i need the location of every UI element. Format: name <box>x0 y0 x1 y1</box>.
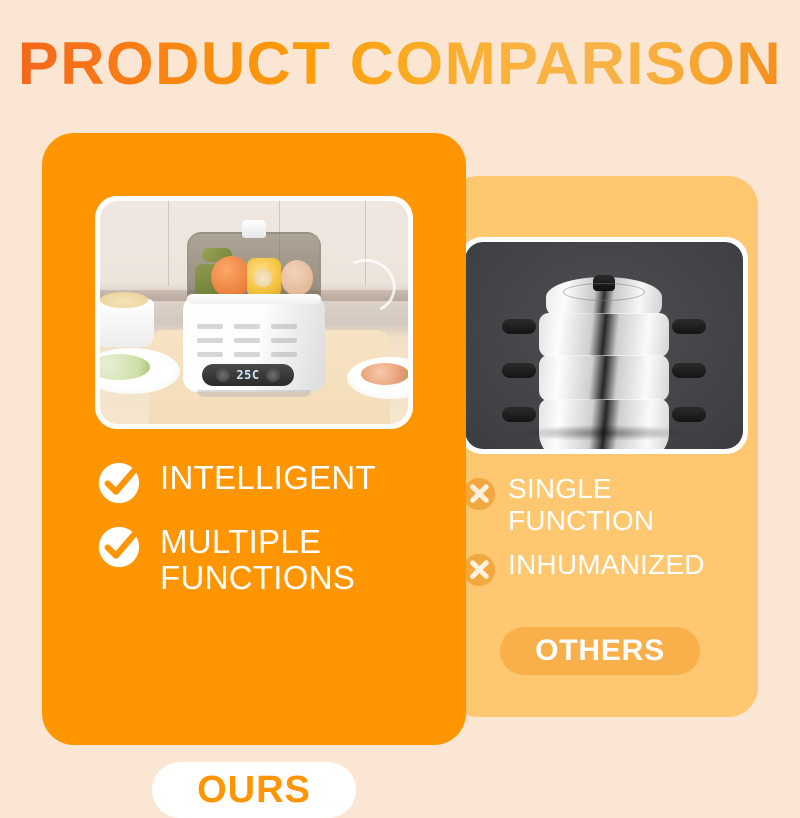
ours-feature-label: MULTIPLE FUNCTIONS <box>160 524 355 596</box>
side-bowl <box>100 299 154 347</box>
steamer-body: 25C <box>183 294 325 392</box>
check-circle-icon <box>98 462 140 504</box>
others-badge: OTHERS <box>500 627 700 675</box>
x-circle-icon <box>462 477 496 511</box>
steamer-display-panel[interactable]: 25C <box>202 364 294 386</box>
pot-handle-left-1 <box>502 319 536 334</box>
kitchen-scene: 25C <box>100 201 408 424</box>
others-feature-item: INHUMANIZED <box>462 549 752 587</box>
pot-tier-2 <box>539 355 669 401</box>
display-right-button[interactable] <box>266 368 280 382</box>
pot-shadow <box>519 425 689 441</box>
x-circle-icon <box>462 553 496 587</box>
pot-handle-left-2 <box>502 363 536 378</box>
lid-knob <box>242 220 266 238</box>
control-labels-row <box>197 324 297 330</box>
ours-badge: OURS <box>152 762 356 818</box>
pot-handle-left-3 <box>502 407 536 422</box>
page-title: PRODUCT COMPARISON <box>0 33 800 95</box>
ours-feature-item: MULTIPLE FUNCTIONS <box>98 524 450 596</box>
corn-cob <box>247 258 281 298</box>
stainless-steel-steamer-pot-icon <box>529 267 679 428</box>
sweet-potato <box>211 256 251 298</box>
control-labels-row <box>197 338 297 344</box>
others-feature-item: SINGLE FUNCTION <box>462 473 752 537</box>
others-product-image <box>465 242 743 449</box>
pot-tier-1 <box>539 313 669 357</box>
ours-product-image-frame: 25C <box>95 196 413 429</box>
ours-comparison-card: 25C INTELLIGENT MULTIPLE FU <box>42 133 466 745</box>
salad <box>100 354 150 380</box>
others-feature-label: INHUMANIZED <box>508 549 705 581</box>
steamer-base <box>197 390 311 397</box>
ours-feature-label: INTELLIGENT <box>160 460 376 496</box>
pot-handle-right-2 <box>672 363 706 378</box>
others-feature-list: SINGLE FUNCTION INHUMANIZED <box>462 473 752 599</box>
others-feature-label: SINGLE FUNCTION <box>508 473 654 537</box>
display-left-button[interactable] <box>216 368 230 382</box>
pot-lid-knob <box>593 275 615 291</box>
pot-lid <box>546 277 662 317</box>
ours-feature-item: INTELLIGENT <box>98 460 450 504</box>
others-comparison-card: SINGLE FUNCTION INHUMANIZED OTHERS <box>448 176 758 717</box>
electric-food-steamer-icon: 25C <box>183 226 325 404</box>
steamer-glass-lid <box>187 232 321 302</box>
display-temperature-value: 25C <box>236 368 259 382</box>
pot-handle-right-1 <box>672 319 706 334</box>
steamer-rim <box>187 294 321 304</box>
ours-product-image: 25C <box>100 201 408 424</box>
check-circle-icon <box>98 526 140 568</box>
others-product-image-frame <box>460 237 748 454</box>
steamed-food <box>281 260 313 296</box>
control-labels-row <box>197 352 297 358</box>
steel-steamer-scene <box>465 242 743 449</box>
pot-handle-right-3 <box>672 407 706 422</box>
ours-feature-list: INTELLIGENT MULTIPLE FUNCTIONS <box>98 460 450 616</box>
